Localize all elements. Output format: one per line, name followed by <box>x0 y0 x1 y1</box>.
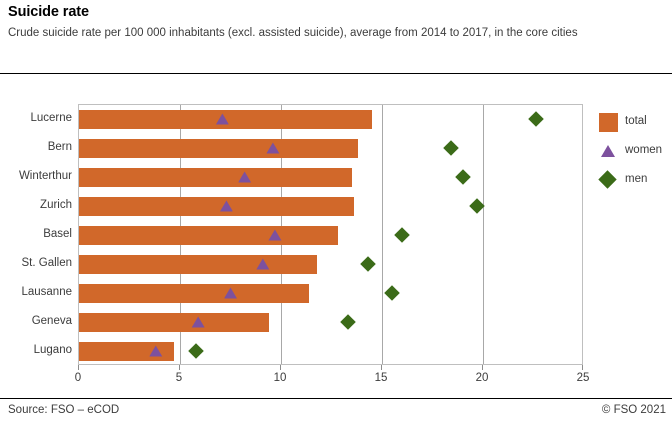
bar-total <box>79 284 309 303</box>
copyright-note: © FSO 2021 <box>602 404 666 416</box>
x-axis-tick-label: 10 <box>274 372 287 384</box>
chart-row <box>79 105 582 134</box>
marker-men <box>384 285 400 301</box>
legend-label: women <box>625 144 662 156</box>
bar-total <box>79 342 174 361</box>
y-axis-label: Geneva <box>0 315 72 328</box>
x-axis-tick <box>78 365 79 370</box>
y-axis-label: Basel <box>0 228 72 241</box>
marker-men <box>469 198 485 214</box>
bar-total <box>79 197 354 216</box>
y-axis-label: Winterthur <box>0 170 72 183</box>
legend-item-total[interactable]: total <box>599 110 672 139</box>
triangle-marker-icon <box>601 145 615 157</box>
x-axis-tick <box>280 365 281 370</box>
marker-men <box>188 343 204 359</box>
chart-canvas: LucerneBernWinterthurZurichBaselSt. Gall… <box>0 0 672 427</box>
legend-item-women[interactable]: women <box>599 139 672 168</box>
bar-total <box>79 168 352 187</box>
x-axis-tick-label: 5 <box>176 372 182 384</box>
marker-men <box>340 314 356 330</box>
y-axis-label: St. Gallen <box>0 257 72 270</box>
y-axis-label: Lucerne <box>0 112 72 125</box>
y-axis-label: Zurich <box>0 199 72 212</box>
chart-row <box>79 134 582 163</box>
marker-men <box>443 140 459 156</box>
x-axis-tick <box>482 365 483 370</box>
plot-area <box>78 104 583 365</box>
chart-row <box>79 192 582 221</box>
chart-row <box>79 279 582 308</box>
y-axis-label: Lausanne <box>0 286 72 299</box>
diamond-marker-icon <box>598 170 616 188</box>
legend-label: men <box>625 173 647 185</box>
marker-men <box>394 227 410 243</box>
marker-men <box>360 256 376 272</box>
marker-men <box>528 111 544 127</box>
legend-item-men[interactable]: men <box>599 168 672 197</box>
chart-legend: totalwomenmen <box>599 110 672 197</box>
y-axis-label: Bern <box>0 141 72 154</box>
square-swatch-icon <box>599 113 618 132</box>
bar-total <box>79 255 317 274</box>
x-axis-tick <box>582 365 583 370</box>
chart-row <box>79 337 582 366</box>
x-axis: 0510152025 <box>78 365 583 395</box>
x-axis-tick <box>381 365 382 370</box>
x-axis-tick-label: 20 <box>476 372 489 384</box>
chart-row <box>79 221 582 250</box>
chart-row <box>79 163 582 192</box>
chart-row <box>79 308 582 337</box>
source-note: Source: FSO – eCOD <box>8 404 119 416</box>
legend-label: total <box>625 115 647 127</box>
y-axis-label: Lugano <box>0 344 72 357</box>
x-axis-tick <box>179 365 180 370</box>
footer-divider <box>0 398 672 399</box>
bar-total <box>79 139 358 158</box>
y-axis-labels: LucerneBernWinterthurZurichBaselSt. Gall… <box>0 104 72 365</box>
bar-total <box>79 226 338 245</box>
x-axis-tick-label: 0 <box>75 372 81 384</box>
x-axis-tick-label: 15 <box>375 372 388 384</box>
marker-men <box>455 169 471 185</box>
x-axis-tick-label: 25 <box>577 372 590 384</box>
bar-total <box>79 313 269 332</box>
chart-row <box>79 250 582 279</box>
